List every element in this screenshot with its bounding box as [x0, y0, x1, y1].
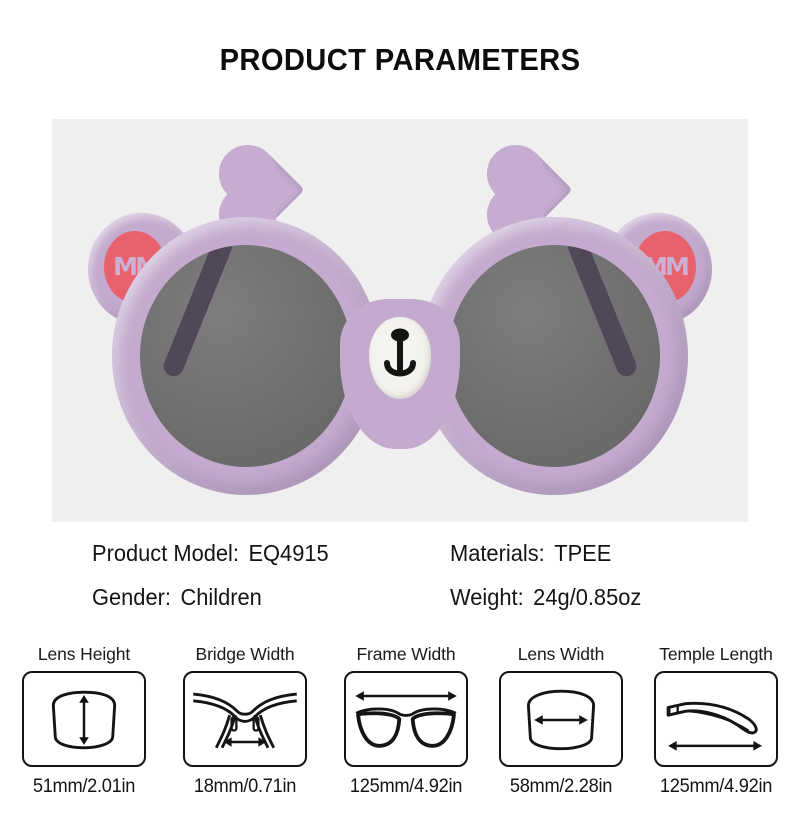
measurement-frame-width: Frame Width 125mm/4.92in — [328, 644, 484, 798]
lens-height-icon — [24, 673, 144, 765]
spec-value: Children — [180, 584, 261, 610]
measurement-label: Lens Height — [6, 644, 162, 665]
temple-arm-through-lens-left — [161, 245, 236, 379]
temple-arm-through-lens-right — [565, 245, 640, 379]
measurement-list: Lens Height 51mm/2.01in Bridge Width — [0, 644, 800, 824]
product-photo: MM MM — [52, 119, 748, 522]
measurement-label: Frame Width — [328, 644, 484, 665]
measurement-lens-height: Lens Height 51mm/2.01in — [6, 644, 162, 798]
spec-value: EQ4915 — [248, 540, 328, 566]
measurement-diagram-box — [499, 671, 623, 767]
lens-right — [448, 245, 660, 467]
lens-frame-right — [420, 217, 688, 495]
spec-label: Materials: — [450, 540, 545, 566]
page-title: PRODUCT PARAMETERS — [24, 42, 776, 78]
measurement-diagram-box — [654, 671, 778, 767]
measurement-value: 58mm/2.28in — [486, 776, 636, 798]
spec-product-model: Product Model:EQ4915 — [92, 540, 329, 567]
spec-row: Product Model:EQ4915 Materials:TPEE — [0, 540, 800, 580]
spec-weight: Weight:24g/0.85oz — [450, 584, 641, 611]
measurement-diagram-box — [344, 671, 468, 767]
temple-length-icon — [656, 673, 776, 765]
bear-nose-icon — [383, 327, 417, 385]
measurement-value: 18mm/0.71in — [170, 776, 320, 798]
product-image-panel: MM MM — [52, 119, 748, 522]
lens-width-icon — [501, 673, 621, 765]
measurement-diagram-box — [22, 671, 146, 767]
measurement-label: Lens Width — [483, 644, 639, 665]
measurement-value: 51mm/2.01in — [9, 776, 159, 798]
spec-value: 24g/0.85oz — [533, 584, 641, 610]
spec-value: TPEE — [554, 540, 611, 566]
frame-width-icon — [346, 673, 466, 765]
measurement-lens-width: Lens Width 58mm/2.28in — [483, 644, 639, 798]
spec-label: Product Model: — [92, 540, 239, 566]
spec-list: Product Model:EQ4915 Materials:TPEE Gend… — [0, 534, 800, 624]
measurement-value: 125mm/4.92in — [641, 776, 791, 798]
lens-left — [140, 245, 352, 467]
spec-label: Weight: — [450, 584, 524, 610]
sunglasses-illustration: MM MM — [70, 149, 730, 509]
measurement-value: 125mm/4.92in — [331, 776, 481, 798]
spec-materials: Materials:TPEE — [450, 540, 611, 567]
spec-gender: Gender:Children — [92, 584, 262, 611]
measurement-label: Bridge Width — [167, 644, 323, 665]
spec-label: Gender: — [92, 584, 171, 610]
spec-row: Gender:Children Weight:24g/0.85oz — [0, 584, 800, 624]
measurement-label: Temple Length — [638, 644, 794, 665]
measurement-bridge-width: Bridge Width 18mm/0.71in — [167, 644, 323, 798]
measurement-diagram-box — [183, 671, 307, 767]
measurement-temple-length: Temple Length 125mm/4.92in — [638, 644, 794, 798]
bridge-width-icon — [185, 673, 305, 765]
